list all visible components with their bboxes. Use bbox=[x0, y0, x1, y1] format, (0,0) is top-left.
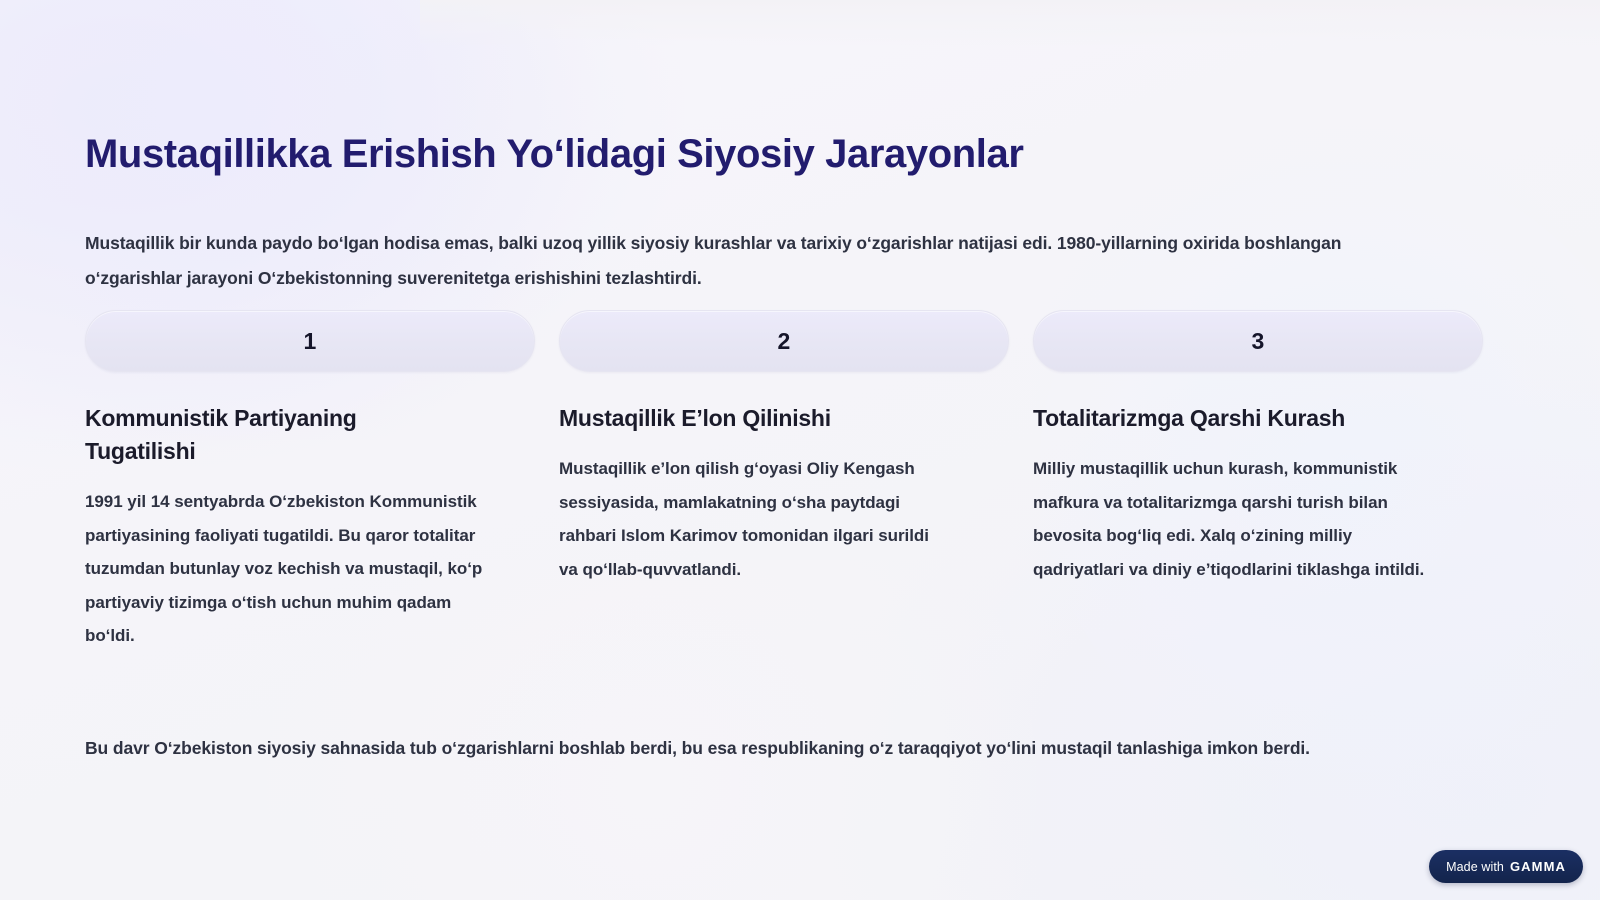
step-pill-1[interactable]: 1 bbox=[85, 310, 535, 372]
step-body-2: Mustaqillik e’lon qilish g‘oyasi Oliy Ke… bbox=[559, 452, 951, 586]
badge-brand-label: GAMMA bbox=[1510, 859, 1566, 874]
steps-columns: 1 Kommunistik Partiyaning Tugatilishi 19… bbox=[85, 310, 1485, 653]
step-heading-3: Totalitarizmga Qarshi Kurash bbox=[1033, 402, 1483, 435]
step-column-1: 1 Kommunistik Partiyaning Tugatilishi 19… bbox=[85, 310, 535, 653]
intro-paragraph: Mustaqillik bir kunda paydo bo‘lgan hodi… bbox=[85, 226, 1430, 296]
step-heading-1: Kommunistik Partiyaning Tugatilishi bbox=[85, 402, 415, 468]
step-body-1: 1991 yil 14 sentyabrda O‘zbekiston Kommu… bbox=[85, 485, 485, 653]
slide-canvas: Mustaqillikka Erishish Yo‘lidagi Siyosiy… bbox=[0, 0, 1600, 900]
step-body-3: Milliy mustaqillik uchun kurash, kommuni… bbox=[1033, 452, 1443, 586]
step-number-3: 3 bbox=[1252, 328, 1265, 355]
step-number-1: 1 bbox=[304, 328, 317, 355]
badge-made-with-label: Made with bbox=[1446, 860, 1504, 874]
conclusion-paragraph: Bu davr O‘zbekiston siyosiy sahnasida tu… bbox=[85, 733, 1600, 763]
step-column-2: 2 Mustaqillik E’lon Qilinishi Mustaqilli… bbox=[559, 310, 1009, 586]
slide-content: Mustaqillikka Erishish Yo‘lidagi Siyosiy… bbox=[0, 0, 1600, 900]
step-number-2: 2 bbox=[778, 328, 791, 355]
made-with-gamma-badge[interactable]: Made with GAMMA bbox=[1429, 850, 1583, 883]
step-column-3: 3 Totalitarizmga Qarshi Kurash Milliy mu… bbox=[1033, 310, 1483, 586]
step-pill-2[interactable]: 2 bbox=[559, 310, 1009, 372]
page-title: Mustaqillikka Erishish Yo‘lidagi Siyosiy… bbox=[85, 128, 1024, 180]
step-heading-2: Mustaqillik E’lon Qilinishi bbox=[559, 402, 1009, 435]
step-pill-3[interactable]: 3 bbox=[1033, 310, 1483, 372]
